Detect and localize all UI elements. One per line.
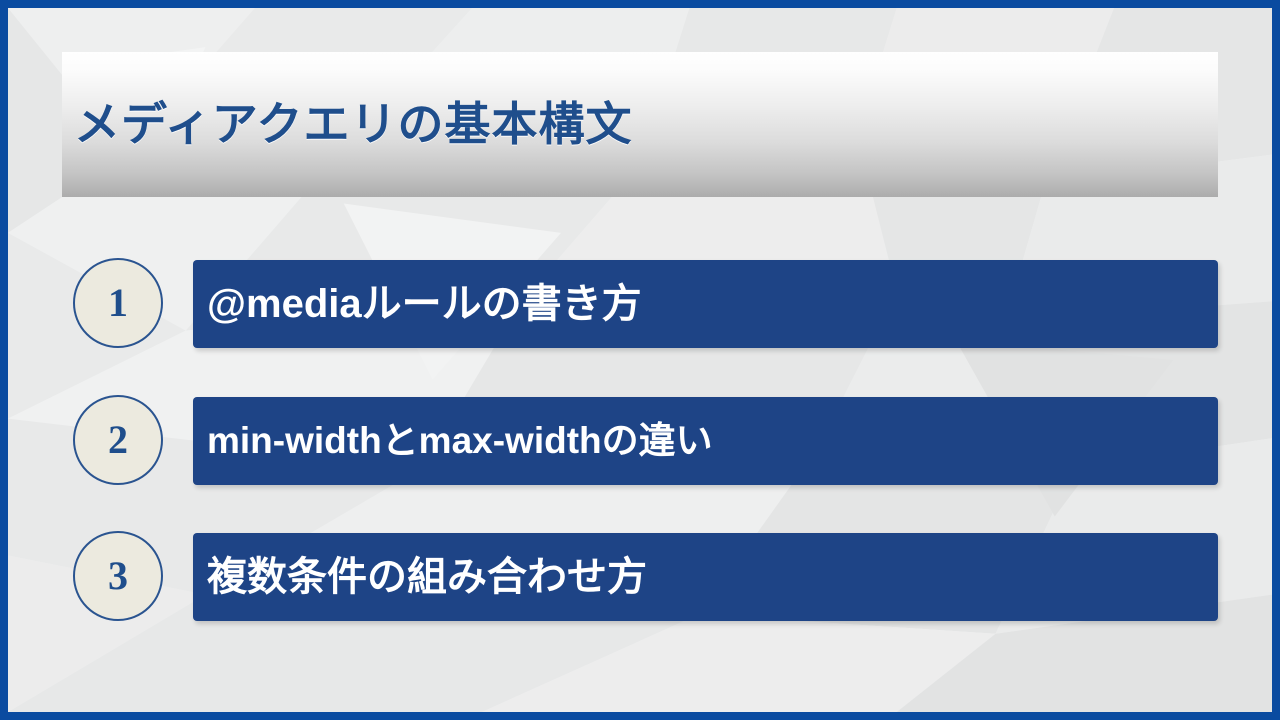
item-number-label: 3 [108, 556, 128, 596]
item-label: @mediaルールの書き方 [207, 283, 642, 325]
item-bar[interactable]: 複数条件の組み合わせ方 [193, 533, 1218, 621]
item-number-label: 2 [108, 420, 128, 460]
item-bar[interactable]: @mediaルールの書き方 [193, 260, 1218, 348]
title-band: メディアクエリの基本構文 [62, 52, 1218, 197]
slide-canvas: メディアクエリの基本構文 1 @mediaルールの書き方 2 min-width… [0, 0, 1280, 720]
page-title: メディアクエリの基本構文 [74, 99, 632, 150]
item-number-label: 1 [108, 283, 128, 323]
item-label: min-widthとmax-widthの違い [207, 422, 713, 461]
item-number-badge: 1 [73, 258, 163, 348]
item-label: 複数条件の組み合わせ方 [207, 556, 647, 598]
item-number-badge: 3 [73, 531, 163, 621]
item-bar[interactable]: min-widthとmax-widthの違い [193, 397, 1218, 485]
item-number-badge: 2 [73, 395, 163, 485]
